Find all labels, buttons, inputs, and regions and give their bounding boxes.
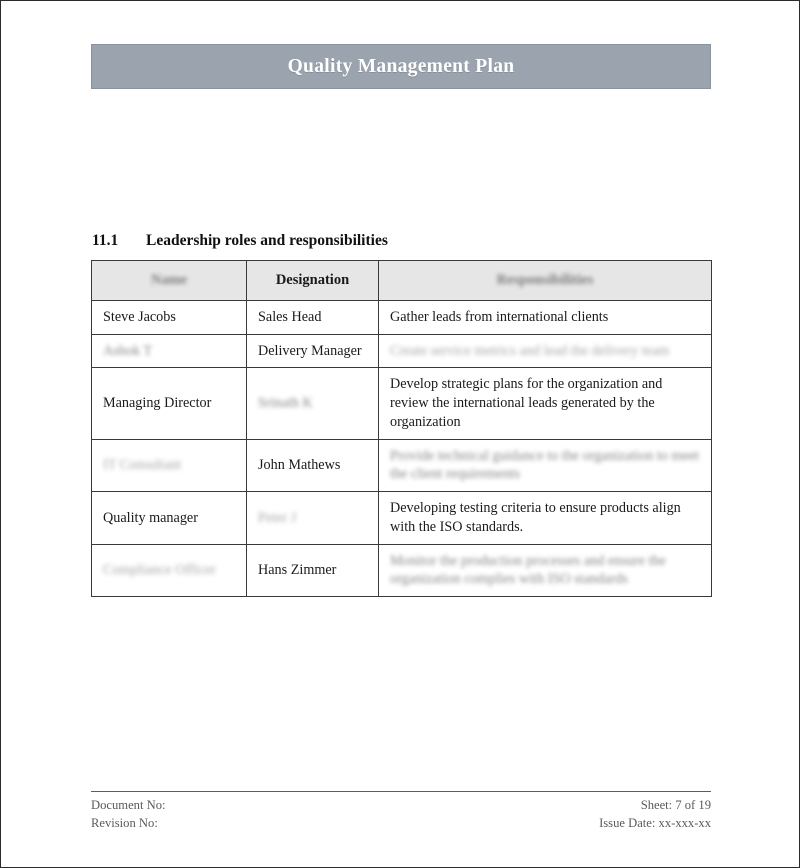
footer-sheet-number: Sheet: 7 of 19 [641,796,711,814]
cell-name: Compliance Officer [92,544,247,596]
footer-row-bottom: Revision No: Issue Date: xx-xxx-xx [91,814,711,832]
cell-name: Steve Jacobs [92,301,247,335]
table-row: IT Consultant John Mathews Provide techn… [92,439,712,491]
section-heading: 11.1 Leadership roles and responsibiliti… [92,232,388,250]
cell-designation-text: John Mathews [258,457,340,473]
cell-designation-text: Peter J [258,510,296,526]
table-row: Ashok T Delivery Manager Create service … [92,334,712,368]
cell-designation: John Mathews [247,439,379,491]
section-number: 11.1 [92,232,146,250]
cell-name: Managing Director [92,368,247,439]
cell-designation-text: Delivery Manager [258,343,362,359]
cell-name: IT Consultant [92,439,247,491]
table-row: Quality manager Peter J Developing testi… [92,492,712,544]
cell-responsibility-text: Create service metrics and lead the deli… [390,343,669,359]
cell-designation: Peter J [247,492,379,544]
cell-responsibility: Developing testing criteria to ensure pr… [379,492,712,544]
cell-designation: Sales Head [247,301,379,335]
cell-responsibility: Provide technical guidance to the organi… [379,439,712,491]
table-body: Steve Jacobs Sales Head Gather leads fro… [92,301,712,597]
cell-designation: Hans Zimmer [247,544,379,596]
cell-responsibility-text: Develop strategic plans for the organiza… [390,376,662,429]
document-page: Quality Management Plan 11.1 Leadership … [0,0,800,868]
footer-document-no-label: Document No: [91,796,166,814]
cell-responsibility-text: Monitor the production processes and ens… [390,553,666,588]
cell-designation-text: Sales Head [258,309,321,325]
table-header-row: Name Designation Responsibilities [92,261,712,301]
footer-issue-date: Issue Date: xx-xxx-xx [599,814,711,832]
table-header: Name Designation Responsibilities [92,261,712,301]
column-header-designation-text: Designation [276,272,349,288]
table-row: Steve Jacobs Sales Head Gather leads fro… [92,301,712,335]
cell-responsibility: Create service metrics and lead the deli… [379,334,712,368]
column-header-designation: Designation [247,261,379,301]
footer-revision-no-label: Revision No: [91,814,158,832]
cell-responsibility-text: Provide technical guidance to the organi… [390,448,699,483]
leadership-roles-table: Name Designation Responsibilities Steve … [91,260,712,597]
table-row: Managing Director Srinath K Develop stra… [92,368,712,439]
cell-designation-text: Srinath K [258,395,313,411]
column-header-responsibilities: Responsibilities [379,261,712,301]
cell-designation: Delivery Manager [247,334,379,368]
column-header-responsibilities-text: Responsibilities [497,272,594,288]
table-row: Compliance Officer Hans Zimmer Monitor t… [92,544,712,596]
cell-name-text: Ashok T [103,343,152,359]
section-title: Leadership roles and responsibilities [146,232,388,250]
cell-name-text: Managing Director [103,395,211,411]
cell-name: Quality manager [92,492,247,544]
cell-responsibility: Develop strategic plans for the organiza… [379,368,712,439]
column-header-name-text: Name [151,272,187,288]
cell-responsibility: Gather leads from international clients [379,301,712,335]
footer-row-top: Document No: Sheet: 7 of 19 [91,796,711,814]
cell-responsibility-text: Gather leads from international clients [390,309,608,325]
document-title: Quality Management Plan [288,56,515,78]
document-title-banner: Quality Management Plan [91,44,711,89]
cell-name-text: Quality manager [103,510,198,526]
cell-name: Ashok T [92,334,247,368]
column-header-name: Name [92,261,247,301]
cell-designation-text: Hans Zimmer [258,562,336,578]
cell-responsibility: Monitor the production processes and ens… [379,544,712,596]
cell-name-text: Compliance Officer [103,562,216,578]
page-footer: Document No: Sheet: 7 of 19 Revision No:… [91,791,711,833]
cell-responsibility-text: Developing testing criteria to ensure pr… [390,500,681,535]
cell-name-text: IT Consultant [103,457,181,473]
cell-designation: Srinath K [247,368,379,439]
cell-name-text: Steve Jacobs [103,309,176,325]
